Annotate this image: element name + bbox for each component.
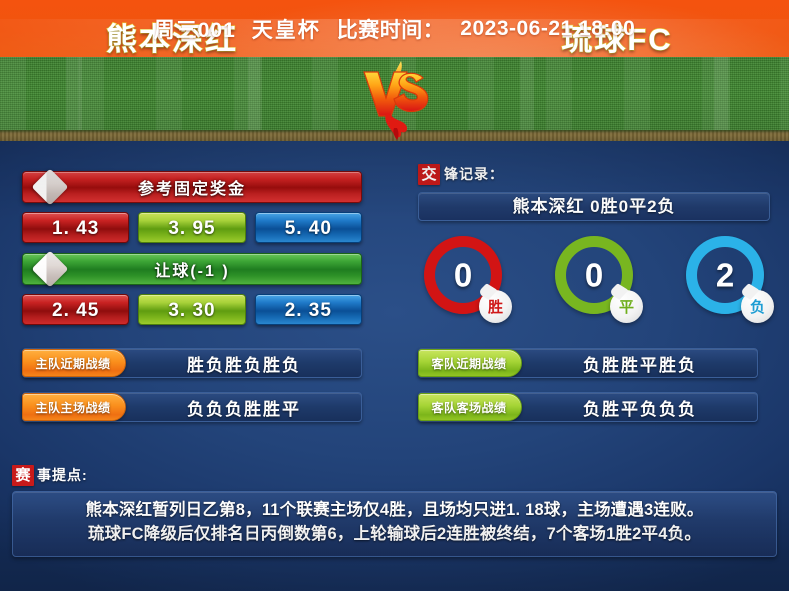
- home-home-form: 主队主场战绩 负负负胜胜平: [22, 392, 362, 422]
- match-notes: 赛 事提点: 熊本深红暂列日乙第8，11个联赛主场仅4胜，且场均只进1. 18球…: [12, 464, 777, 557]
- pitch-stripe: [248, 57, 262, 141]
- handicap-odds-title-label: 让球(-1 ): [154, 257, 229, 281]
- pitch-stripe: [66, 57, 82, 141]
- h2h-losses-badge: 负: [741, 290, 774, 323]
- content-area: 参考固定奖金 1. 43 3. 95 5. 40 让球(-1 ) 2. 45 3…: [0, 141, 789, 591]
- fixed-odds-title: 参考固定奖金: [22, 171, 362, 203]
- h2h-label-text: 锋记录：: [444, 164, 504, 184]
- fixed-odds-draw[interactable]: 3. 95: [138, 212, 245, 243]
- fixed-odds-row: 1. 43 3. 95 5. 40: [22, 212, 362, 243]
- h2h-wins: 0 胜: [424, 236, 502, 314]
- h2h-label-badge: 交: [418, 164, 440, 185]
- h2h-draws: 0 平: [555, 236, 633, 314]
- handicap-odds-row: 2. 45 3. 30 2. 35: [22, 294, 362, 325]
- h2h-losses: 2 负: [686, 236, 764, 314]
- pitch-stripe: [520, 57, 534, 141]
- handicap-odds-home[interactable]: 2. 45: [22, 294, 129, 325]
- match-preview-card: 周三001 天皇杯 比赛时间： 2023-06-21 18:00 熊本深红 琉球…: [0, 0, 789, 591]
- notes-line: 熊本深红暂列日乙第8，11个联赛主场仅4胜，且场均只进1. 18球，主场遭遇3连…: [23, 499, 766, 523]
- home-recent-form-tag: 主队近期战绩: [22, 349, 126, 377]
- competition-name: 天皇杯: [252, 14, 321, 44]
- home-recent-form-value: 胜负胜负胜负: [127, 351, 361, 376]
- away-recent-form-tag: 客队近期战绩: [418, 349, 522, 377]
- notes-label-badge: 赛: [12, 465, 34, 486]
- home-home-form-tag: 主队主场战绩: [22, 393, 126, 421]
- home-home-form-value: 负负负胜胜平: [127, 395, 361, 420]
- away-recent-form: 客队近期战绩 负胜胜平胜负: [418, 348, 758, 378]
- home-recent-form: 主队近期战绩 胜负胜负胜负: [22, 348, 362, 378]
- handicap-odds-draw[interactable]: 3. 30: [138, 294, 245, 325]
- h2h-wins-badge: 胜: [479, 290, 512, 323]
- notes-section-label: 赛 事提点:: [12, 464, 777, 486]
- vs-icon: [352, 58, 438, 142]
- h2h-panel: 交 锋记录： 熊本深红 0胜0平2负 0 胜 0 平 2 负: [418, 163, 770, 314]
- kickoff-label: 比赛时间：: [337, 14, 445, 44]
- pitch-stripe: [714, 57, 730, 141]
- fixed-odds-home[interactable]: 1. 43: [22, 212, 129, 243]
- fixed-odds-away[interactable]: 5. 40: [255, 212, 362, 243]
- header-title: 周三001 天皇杯 比赛时间： 2023-06-21 18:00: [0, 0, 789, 57]
- handicap-odds-away[interactable]: 2. 35: [255, 294, 362, 325]
- away-away-form: 客队客场战绩 负胜平负负负: [418, 392, 758, 422]
- odds-panel: 参考固定奖金 1. 43 3. 95 5. 40 让球(-1 ) 2. 45 3…: [22, 171, 362, 325]
- away-recent-form-value: 负胜胜平胜负: [523, 351, 757, 376]
- diamond-icon: [32, 251, 69, 288]
- handicap-odds-title: 让球(-1 ): [22, 253, 362, 285]
- kickoff-time: 2023-06-21 18:00: [460, 17, 635, 41]
- notes-label-text: 事提点:: [37, 465, 88, 485]
- away-away-form-tag: 客队客场战绩: [418, 393, 522, 421]
- away-away-form-value: 负胜平负负负: [523, 395, 757, 420]
- h2h-summary: 熊本深红 0胜0平2负: [418, 192, 770, 221]
- h2h-draws-badge: 平: [610, 290, 643, 323]
- fixed-odds-title-label: 参考固定奖金: [138, 175, 246, 199]
- h2h-section-label: 交 锋记录：: [418, 163, 770, 185]
- diamond-icon: [32, 169, 69, 206]
- notes-box: 熊本深红暂列日乙第8，11个联赛主场仅4胜，且场均只进1. 18球，主场遭遇3连…: [12, 491, 777, 557]
- notes-line: 琉球FC降级后仅排名日丙倒数第6，上轮输球后2连胜被终结，7个客场1胜2平4负。: [23, 523, 766, 547]
- match-round: 周三001: [154, 14, 236, 44]
- header-bar: 周三001 天皇杯 比赛时间： 2023-06-21 18:00: [0, 0, 789, 57]
- h2h-stats: 0 胜 0 平 2 负: [418, 236, 770, 314]
